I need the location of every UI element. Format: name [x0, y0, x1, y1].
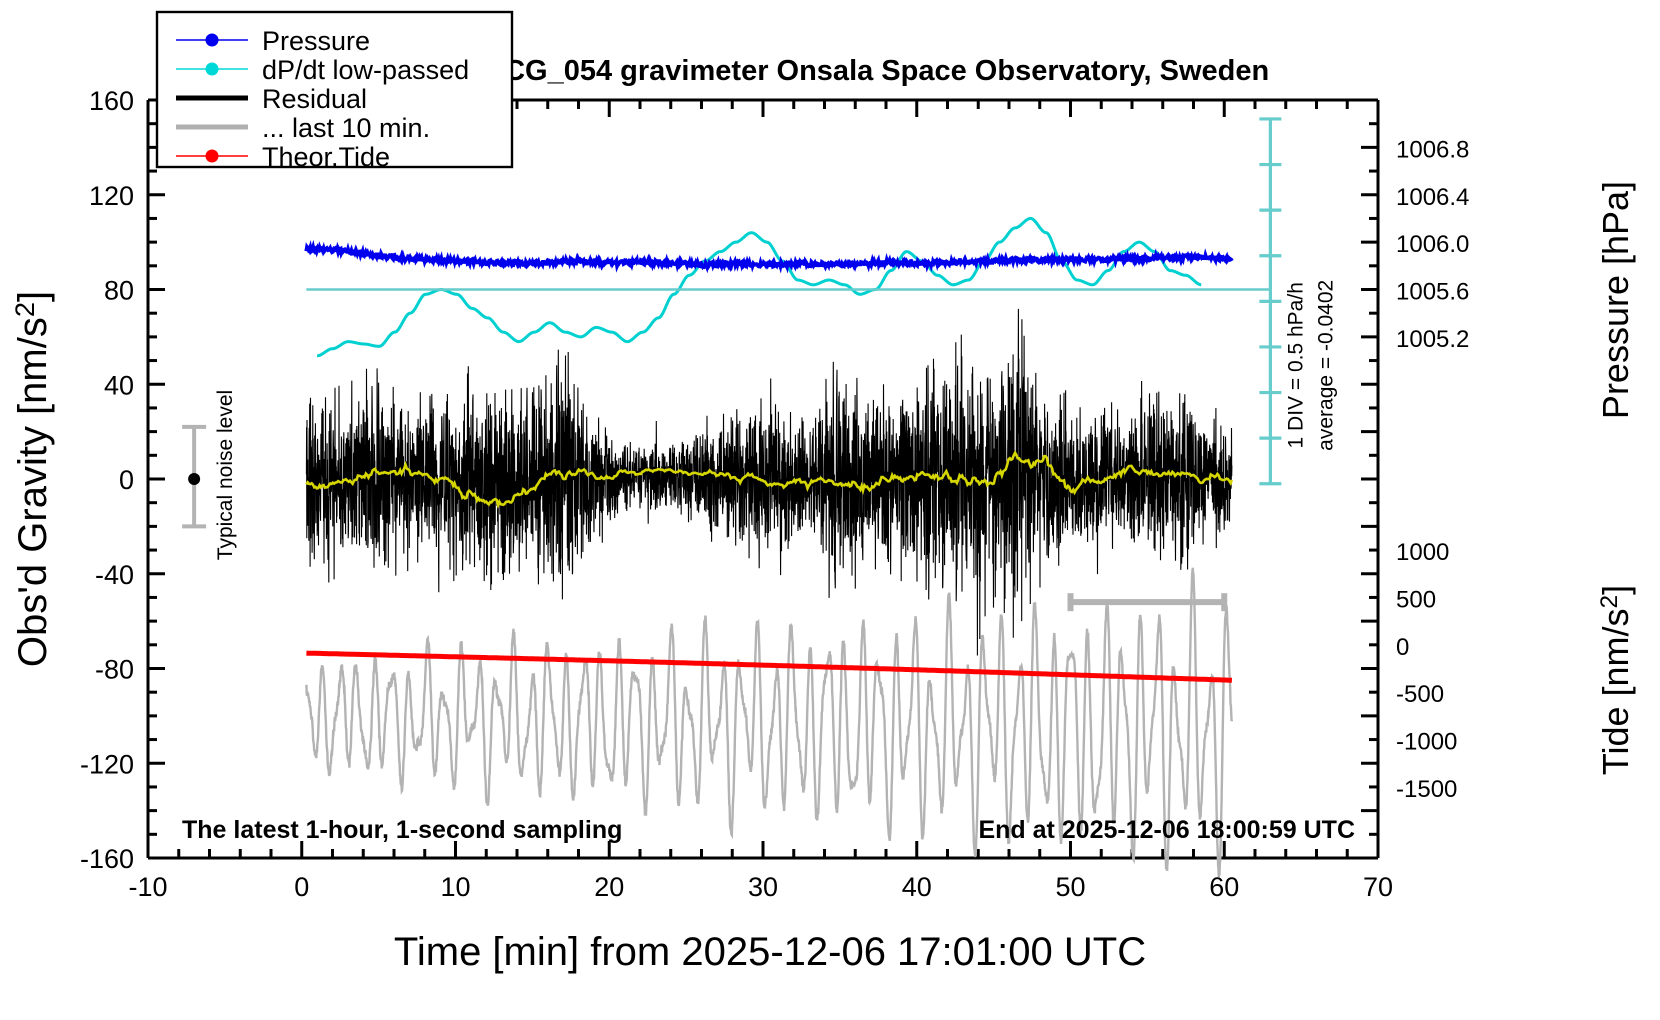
left-axis-tick-label: 160 — [89, 86, 134, 116]
legend-marker-1 — [206, 34, 219, 47]
bottom-axis-tick-label: 70 — [1363, 872, 1393, 902]
bottom-axis-tick-label: 50 — [1055, 872, 1085, 902]
gravimeter-time-series-chart: -160-120-80-4004080120160 -1001020304050… — [0, 0, 1660, 1020]
noise-level-point — [188, 473, 200, 485]
bottom-axis-tick-label: 0 — [294, 872, 309, 902]
pressure-axis-title: Pressure [hPa] — [1595, 181, 1636, 419]
bottom-axis-tick-label: 60 — [1209, 872, 1239, 902]
pressure-axis-tick-label: 1006.4 — [1396, 184, 1469, 211]
tide-axis-tick-label: -1500 — [1396, 776, 1457, 803]
left-axis-title: Obs'd Gravity [nm/s2] — [9, 291, 55, 667]
pressure-axis-tick-label: 1005.6 — [1396, 279, 1469, 306]
legend: PressuredP/dt low-passedResidual... last… — [157, 12, 512, 172]
bottom-axis-tick-label: 30 — [748, 872, 778, 902]
left-axis-title-superscript: 2 — [9, 302, 40, 317]
tide-axis-title-tail: ] — [1595, 585, 1636, 595]
dpdt-division-label: 1 DIV = 0.5 hPa/h — [1284, 282, 1307, 448]
left-axis-tick-label: 40 — [104, 370, 134, 400]
left-axis-title-tail: ] — [11, 291, 55, 302]
left-axis-tick-label: 80 — [104, 276, 134, 306]
pressure-axis-tick-label: 1005.2 — [1396, 326, 1469, 353]
gravimeter-plot-page: -160-120-80-4004080120160 -1001020304050… — [0, 0, 1660, 1020]
tide-axis-title-superscript: 2 — [1596, 595, 1623, 609]
tide-axis-tick-label: 500 — [1396, 586, 1436, 613]
page-title: SCG_054 gravimeter Onsala Space Observat… — [485, 55, 1269, 87]
left-axis-tick-label: -80 — [95, 655, 134, 685]
legend-marker-2 — [206, 63, 219, 76]
bottom-axis-tick-label: 10 — [440, 872, 470, 902]
legend-label-2: dP/dt low-passed — [262, 55, 469, 85]
tide-axis-tick-label: 1000 — [1396, 539, 1449, 566]
bottom-axis-tick-label: 40 — [902, 872, 932, 902]
tide-axis-title-base: Tide [nm/s — [1595, 608, 1636, 775]
legend-marker-5 — [206, 150, 219, 163]
bottom-left-annotation: The latest 1-hour, 1-second sampling — [182, 816, 622, 844]
bottom-axis-tick-label: -10 — [128, 872, 167, 902]
left-axis-tick-label: 120 — [89, 181, 134, 211]
legend-label-1: Pressure — [262, 26, 370, 56]
tide-axis-tick-label: -500 — [1396, 681, 1444, 708]
bottom-axis-tick-label: 20 — [594, 872, 624, 902]
pressure-axis-tick-label: 1006.8 — [1396, 136, 1469, 163]
left-axis-tick-label: 0 — [119, 465, 134, 495]
legend-label-5: Theor.Tide — [262, 142, 390, 172]
left-axis-tick-label: -160 — [80, 844, 134, 874]
dpdt-average-label: average = -0.0402 — [1314, 280, 1337, 451]
left-axis-tick-label: -40 — [95, 560, 134, 590]
pressure-axis-tick-label: 1006.0 — [1396, 231, 1469, 258]
bottom-axis-title: Time [min] from 2025-12-06 17:01:00 UTC — [394, 930, 1146, 974]
typical-noise-level-label: Typical noise level — [214, 390, 237, 560]
left-axis-title-base: Obs'd Gravity [nm/s — [11, 317, 55, 667]
tide-axis-title: Tide [nm/s2] — [1595, 585, 1636, 775]
legend-label-3: Residual — [262, 84, 367, 114]
legend-label-4: ... last 10 min. — [262, 113, 430, 143]
bottom-right-annotation: End at 2025-12-06 18:00:59 UTC — [978, 816, 1355, 844]
tide-axis-tick-label: -1000 — [1396, 729, 1457, 756]
tide-axis-tick-label: 0 — [1396, 634, 1409, 661]
left-axis-tick-label: -120 — [80, 749, 134, 779]
